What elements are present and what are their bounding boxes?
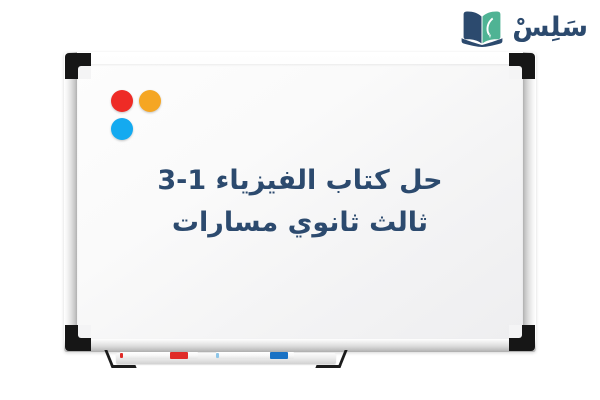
whiteboard-surface: حل كتاب الفيزياء 1-3 ثالث ثانوي مسارات: [77, 64, 523, 339]
marker-blue[interactable]: [216, 352, 294, 359]
magnet-orange[interactable]: [139, 90, 161, 112]
frame-rail-right: [523, 52, 536, 352]
frame-corner-bottom-right: [509, 325, 535, 351]
frame-corner-top-left: [65, 53, 91, 79]
brand-name: سَلِسْ: [512, 14, 588, 41]
magnet-group: [109, 90, 181, 148]
magnet-blue[interactable]: [111, 118, 133, 140]
marker-blue-tip: [216, 353, 219, 358]
frame-rail-left: [64, 52, 77, 352]
headline-line-2: ثالث ثانوي مسارات: [103, 202, 497, 244]
frame-corner-top-right: [509, 53, 535, 79]
marker-tray: [108, 350, 344, 372]
magnet-red[interactable]: [111, 90, 133, 112]
frame-corner-bottom-left: [65, 325, 91, 351]
open-book-quill-icon: [459, 7, 505, 47]
headline-block: حل كتاب الفيزياء 1-3 ثالث ثانوي مسارات: [77, 160, 523, 244]
marker-red[interactable]: [120, 352, 198, 359]
headline-line-1: حل كتاب الفيزياء 1-3: [103, 160, 497, 202]
marker-red-cap: [170, 352, 188, 359]
marker-red-tip: [120, 353, 123, 358]
whiteboard: حل كتاب الفيزياء 1-3 ثالث ثانوي مسارات: [64, 52, 536, 352]
marker-blue-cap: [270, 352, 288, 359]
brand-logo[interactable]: سَلِسْ: [459, 4, 588, 50]
